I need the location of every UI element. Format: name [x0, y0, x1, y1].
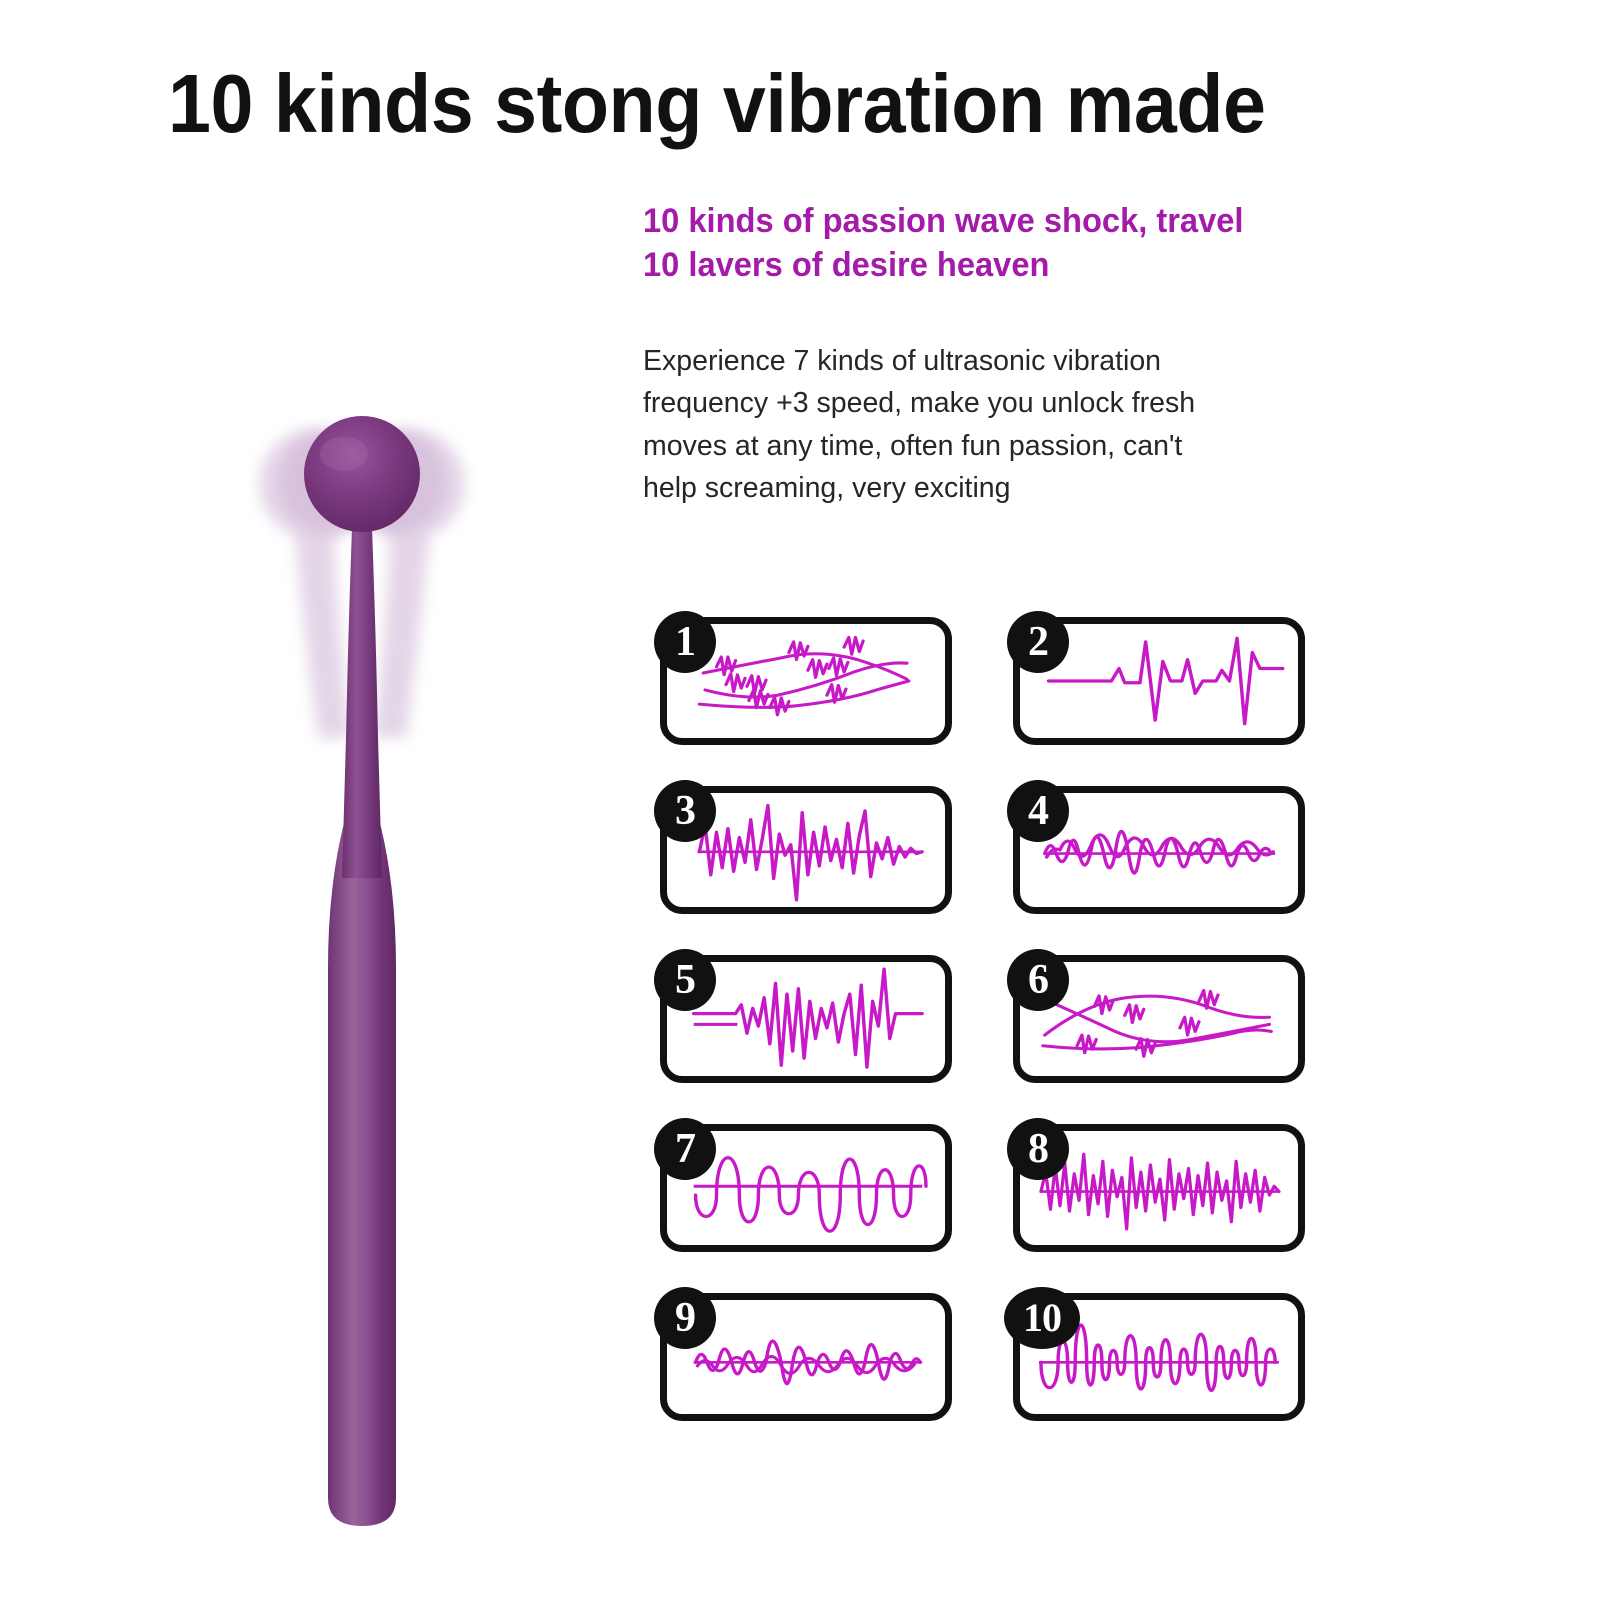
mode-badge-2: 2	[1007, 611, 1069, 673]
mode-badge-10: 10	[1004, 1287, 1080, 1349]
vibration-mode-grid: 1 2 3	[660, 617, 1305, 1422]
subheading-line-1: 10 kinds of passion wave shock, travel	[643, 200, 1401, 244]
vibration-mode-card-7[interactable]: 7	[660, 1124, 952, 1252]
vibration-mode-card-1[interactable]: 1	[660, 617, 952, 745]
mode-badge-8: 8	[1007, 1118, 1069, 1180]
description-line-1: Experience 7 kinds of ultrasonic vibrati…	[643, 340, 1283, 382]
product-head	[304, 416, 420, 532]
mode-badge-6: 6	[1007, 949, 1069, 1011]
infographic-canvas: 10 kinds stong vibration made 10 kinds o…	[0, 0, 1601, 1601]
description-line-2: frequency +3 speed, make you unlock fres…	[643, 382, 1283, 424]
vibration-mode-card-4[interactable]: 4	[1013, 786, 1305, 914]
vibration-mode-card-3[interactable]: 3	[660, 786, 952, 914]
vibration-mode-card-6[interactable]: 6	[1013, 955, 1305, 1083]
vibration-mode-card-10[interactable]: 10	[1013, 1293, 1305, 1421]
description-line-4: help screaming, very exciting	[643, 467, 1283, 509]
description-line-3: moves at any time, often fun passion, ca…	[643, 425, 1283, 467]
subheading: 10 kinds of passion wave shock, travel 1…	[643, 200, 1401, 287]
vibration-mode-card-2[interactable]: 2	[1013, 617, 1305, 745]
mode-badge-7: 7	[654, 1118, 716, 1180]
page-title: 10 kinds stong vibration made	[168, 62, 1377, 145]
mode-badge-1: 1	[654, 611, 716, 673]
subheading-line-2: 10 lavers of desire heaven	[643, 244, 1401, 288]
product-image	[232, 408, 492, 1568]
vibration-mode-card-8[interactable]: 8	[1013, 1124, 1305, 1252]
mode-badge-9: 9	[654, 1287, 716, 1349]
mode-badge-5: 5	[654, 949, 716, 1011]
vibration-mode-card-5[interactable]: 5	[660, 955, 952, 1083]
product-neck	[342, 528, 382, 878]
mode-badge-4: 4	[1007, 780, 1069, 842]
description-paragraph: Experience 7 kinds of ultrasonic vibrati…	[643, 340, 1283, 510]
mode-badge-3: 3	[654, 780, 716, 842]
vibration-mode-card-9[interactable]: 9	[660, 1293, 952, 1421]
